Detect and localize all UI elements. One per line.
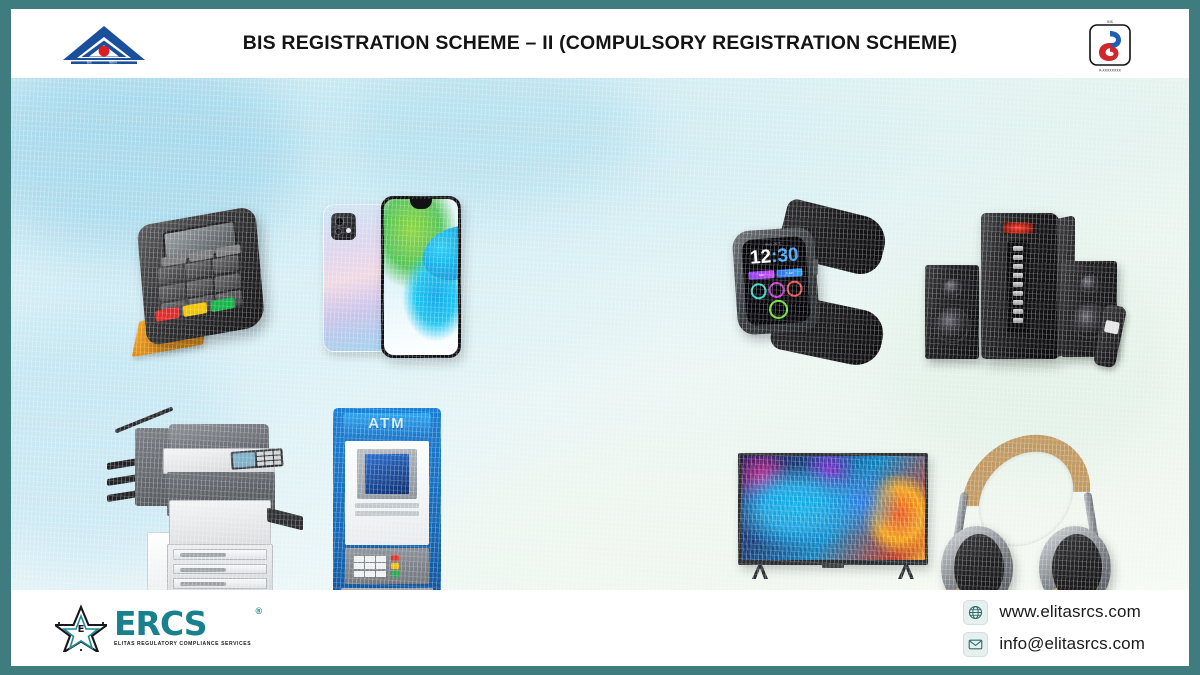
atm-function-keys — [391, 555, 399, 577]
watch-face: Sun 26°C 12:30 Mar 5 Jun — [741, 236, 811, 326]
product-led-tv — [738, 453, 928, 581]
phone-rear — [323, 204, 389, 352]
printer-panel-screen — [233, 452, 256, 468]
poster-inner: BIS INDIA BIS REGISTRATION SCHEME – II (… — [11, 9, 1189, 666]
tv-bezel — [738, 453, 928, 565]
earcup-face-right — [1052, 534, 1102, 590]
camera-module-icon — [331, 213, 356, 240]
watch-time-hours: 12 — [749, 246, 772, 268]
product-atm: ATM — [333, 408, 441, 590]
watch-activity-ring-center — [768, 299, 788, 319]
watch-time: 12:30 — [747, 245, 802, 269]
tv-stand-right — [898, 563, 914, 579]
watch-time-minutes: :30 — [770, 244, 799, 267]
poster: BIS INDIA BIS REGISTRATION SCHEME – II (… — [0, 0, 1200, 675]
printer-side-tray — [267, 508, 303, 531]
contact-info: www.elitasrcs.com info@elitasrcs.com — [963, 600, 1145, 657]
product-smartphone — [323, 196, 473, 361]
envelope-icon — [963, 632, 988, 657]
printer-document-feeder — [169, 424, 269, 450]
watch-case: Sun 26°C 12:30 Mar 5 Jun — [731, 226, 820, 335]
woofer-icon — [934, 307, 970, 343]
ercs-wordmark: ERCS ® ELITAS REGULATORY COMPLIANCE SERV… — [114, 609, 251, 646]
atm-number-keys — [354, 556, 386, 577]
subwoofer-vent — [1007, 241, 1029, 333]
atm-face-panel — [345, 441, 429, 545]
footer: E ERCS ® ELITAS REGULATORY COMPLIANCE SE… — [11, 590, 1189, 666]
subwoofer — [981, 213, 1059, 359]
email-address[interactable]: info@elitasrcs.com — [999, 634, 1145, 654]
atm-card-slots — [355, 503, 419, 521]
website-url[interactable]: www.elitasrcs.com — [999, 602, 1141, 622]
ercs-star-icon: E — [55, 604, 107, 652]
printer-paper-drawers — [167, 544, 273, 590]
svg-text:BIS: BIS — [1107, 20, 1112, 24]
product-pos-terminal — [115, 206, 295, 356]
contact-row-website[interactable]: www.elitasrcs.com — [963, 600, 1145, 625]
header: BIS INDIA BIS REGISTRATION SCHEME – II (… — [11, 9, 1189, 78]
printer-panel-keypad — [257, 450, 282, 466]
product-smartwatch: Sun 26°C 12:30 Mar 5 Jun — [733, 211, 883, 361]
tweeter-icon — [1079, 274, 1099, 294]
product-printer — [107, 416, 307, 590]
watch-widget-1: Mar — [748, 270, 774, 280]
product-headphones — [941, 440, 1111, 590]
crs-standard-mark-icon: BIS R-XXXXXXXX — [1079, 17, 1141, 75]
ercs-tagline: ELITAS REGULATORY COMPLIANCE SERVICES — [114, 641, 251, 647]
watch-widgets: Mar 5 Jun — [748, 268, 802, 280]
atm-sign-label: ATM — [343, 413, 431, 435]
ercs-brand-logo: E ERCS ® ELITAS REGULATORY COMPLIANCE SE… — [55, 604, 251, 652]
ercs-wordmark-text: ERCS — [114, 609, 251, 639]
svg-text:INDIA: INDIA — [109, 61, 117, 65]
watch-widget-2: 5 Jun — [776, 268, 802, 278]
watercolor-wash — [341, 78, 641, 204]
atm-keypad — [345, 548, 429, 584]
tv-screen — [741, 456, 925, 560]
page-title: BIS REGISTRATION SCHEME – II (COMPULSORY… — [243, 32, 958, 55]
watch-activity-rings — [749, 280, 804, 300]
atm-screen — [357, 449, 417, 499]
tv-stand-left — [752, 563, 768, 579]
phone-front — [381, 196, 461, 358]
tv-logo — [822, 564, 844, 568]
svg-text:BIS: BIS — [87, 61, 92, 65]
bis-logo-icon: BIS INDIA — [57, 23, 151, 67]
earcup-face-left — [954, 534, 1004, 590]
printer-control-panel — [230, 448, 283, 470]
svg-text:R-XXXXXXXX: R-XXXXXXXX — [1099, 69, 1122, 73]
contact-row-email[interactable]: info@elitasrcs.com — [963, 632, 1145, 657]
subwoofer-display — [1003, 222, 1033, 234]
phone-display — [384, 199, 458, 355]
registered-trademark-symbol: ® — [256, 606, 263, 616]
watch-crown-button — [813, 259, 818, 275]
product-showcase: Sun 26°C 12:30 Mar 5 Jun — [11, 78, 1189, 590]
globe-icon — [963, 600, 988, 625]
product-speaker-system — [923, 213, 1123, 373]
tweeter-icon — [942, 278, 962, 298]
satellite-speaker-left — [925, 265, 979, 359]
svg-text:E: E — [78, 624, 85, 635]
